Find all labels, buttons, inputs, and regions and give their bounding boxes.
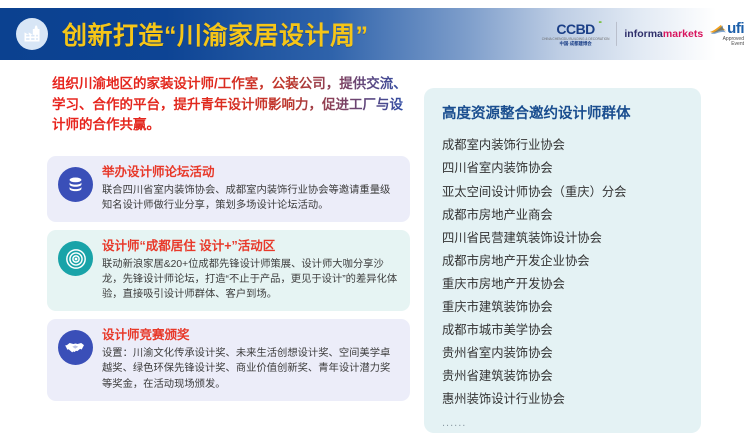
feature-card-title: 设计师竞赛颁奖 [102, 328, 400, 344]
feature-card-list: 举办设计师论坛活动 联合四川省室内装饰协会、成都室内装饰行业协会等邀请重量级知名… [47, 156, 410, 409]
handshake-icon [58, 330, 93, 365]
list-item: 贵州省室内装饰协会 [442, 342, 683, 365]
list-ellipsis: ...... [442, 411, 683, 434]
informa-markets-logo: informamarkets [624, 28, 703, 40]
list-item: 成都市房地产业商会 [442, 203, 683, 226]
feature-card-design-zone: 设计师“成都居住 设计+”活动区 联动新浪家居&20+位成都先锋设计师策展、设计… [47, 230, 410, 311]
ufi-logo-row: ufi [710, 21, 744, 37]
ufi-logo-event: Event [731, 42, 744, 47]
logo-divider [616, 22, 617, 46]
database-stack-icon [58, 167, 93, 202]
list-item: 成都市城市美学协会 [442, 319, 683, 342]
list-item: 重庆市房地产开发协会 [442, 272, 683, 295]
list-item: 亚太空间设计师协会（重庆）分会 [442, 180, 683, 203]
list-item: 成都市房地产开发企业协会 [442, 249, 683, 272]
feature-card-title: 设计师“成都居住 设计+”活动区 [102, 239, 400, 255]
feature-card-body: 联合四川省室内装饰协会、成都室内装饰行业协会等邀请重量级知名设计师做行业分享，策… [102, 183, 400, 213]
associations-list: 成都室内装饰行业协会 四川省室内装饰协会 亚太空间设计师协会（重庆）分会 成都市… [442, 134, 683, 434]
ufi-logo-text: ufi [727, 21, 744, 37]
list-item: 成都室内装饰行业协会 [442, 134, 683, 157]
list-item: 四川省民营建筑装饰设计协会 [442, 226, 683, 249]
list-item: 四川省室内装饰协会 [442, 157, 683, 180]
list-item: 重庆市建筑装饰协会 [442, 296, 683, 319]
ccbd-logo-cn: 中国·成都建博会 [559, 42, 591, 46]
informa-logo-word2: markets [663, 28, 703, 40]
ccbd-logo-dots: •• [599, 20, 601, 26]
feature-card-forum: 举办设计师论坛活动 联合四川省室内装饰协会、成都室内装饰行业协会等邀请重量级知名… [47, 156, 410, 222]
associations-panel: 高度资源整合邀约设计师群体 成都室内装饰行业协会 四川省室内装饰协会 亚太空间设… [424, 88, 701, 433]
header-logos: CCBD•• CHINA CHENGDU BUILDING & DECORATI… [542, 21, 744, 47]
feature-card-body: 设置：川渝文化传承设计奖、未来生活创想设计奖、空间美学卓越奖、绿色环保先锋设计奖… [102, 346, 400, 392]
list-item: 贵州省建筑装饰协会 [442, 365, 683, 388]
feature-card-title: 举办设计师论坛活动 [102, 165, 400, 181]
list-item: 惠州装饰设计行业协会 [442, 388, 683, 411]
ccbd-logo: CCBD•• CHINA CHENGDU BUILDING & DECORATI… [542, 22, 610, 46]
ufi-logo: ufi Approved Event [710, 21, 744, 47]
target-bullseye-icon [58, 241, 93, 276]
ccbd-logo-main: CCBD•• [556, 22, 594, 36]
informa-logo-word1: informa [624, 28, 663, 40]
page-header: 创新打造“川渝家居设计周” CCBD•• CHINA CHENGDU BUILD… [0, 8, 754, 60]
factory-building-icon [16, 18, 48, 50]
page-title: 创新打造“川渝家居设计周” [62, 16, 369, 52]
feature-card-body: 联动新浪家居&20+位成都先锋设计师策展、设计师大咖分享沙龙，先锋设计师论坛，打… [102, 257, 400, 303]
associations-panel-title: 高度资源整合邀约设计师群体 [442, 102, 683, 123]
intro-paragraph: 组织川渝地区的家装设计师/工作室，公装公司，提供交流、学习、合作的平台，提升青年… [52, 74, 407, 136]
ufi-swoosh-icon [710, 23, 726, 34]
feature-card-awards: 设计师竞赛颁奖 设置：川渝文化传承设计奖、未来生活创想设计奖、空间美学卓越奖、绿… [47, 319, 410, 400]
